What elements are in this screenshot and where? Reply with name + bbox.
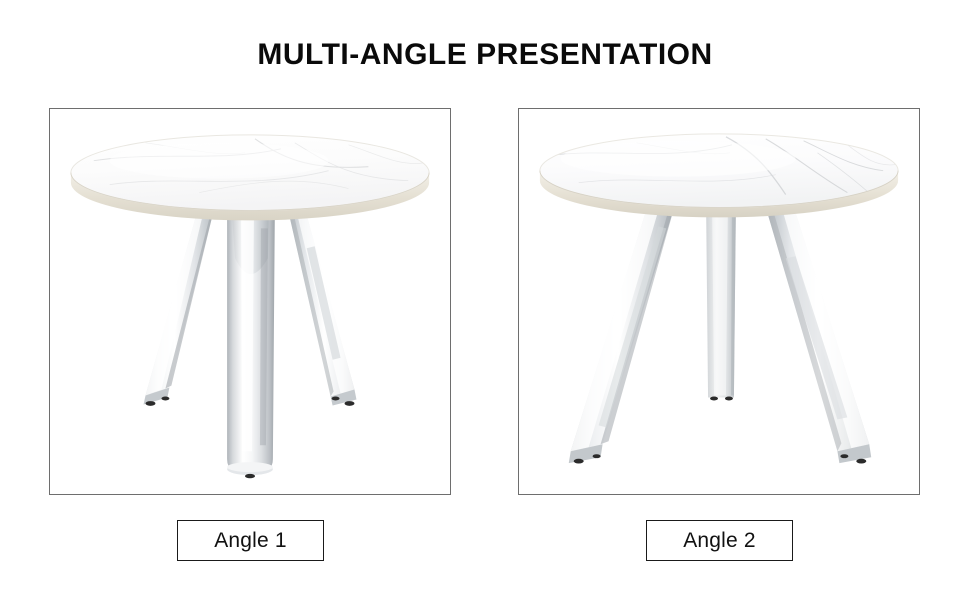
table-leg-right [287,205,357,406]
table-top [540,134,898,218]
table-leg-center-column [227,205,275,479]
caption-box-angle-1: Angle 1 [177,520,324,561]
table-leg-right [764,201,871,464]
product-image-angle-1 [50,109,450,494]
caption-label-angle-1: Angle 1 [214,529,287,553]
caption-box-angle-2: Angle 2 [646,520,793,561]
product-image-angle-2 [519,109,919,494]
product-panel-angle-2 [518,108,920,495]
product-panel-angle-1 [49,108,451,495]
table-leg-left [569,201,676,464]
table-illustration-angle-2 [519,109,919,494]
caption-label-angle-2: Angle 2 [683,529,756,553]
table-illustration-angle-1 [50,109,450,494]
table-leg-left [144,205,216,406]
table-leg-rear-vertical [706,201,736,401]
table-top [71,135,429,221]
page-title: MULTI-ANGLE PRESENTATION [0,38,970,72]
